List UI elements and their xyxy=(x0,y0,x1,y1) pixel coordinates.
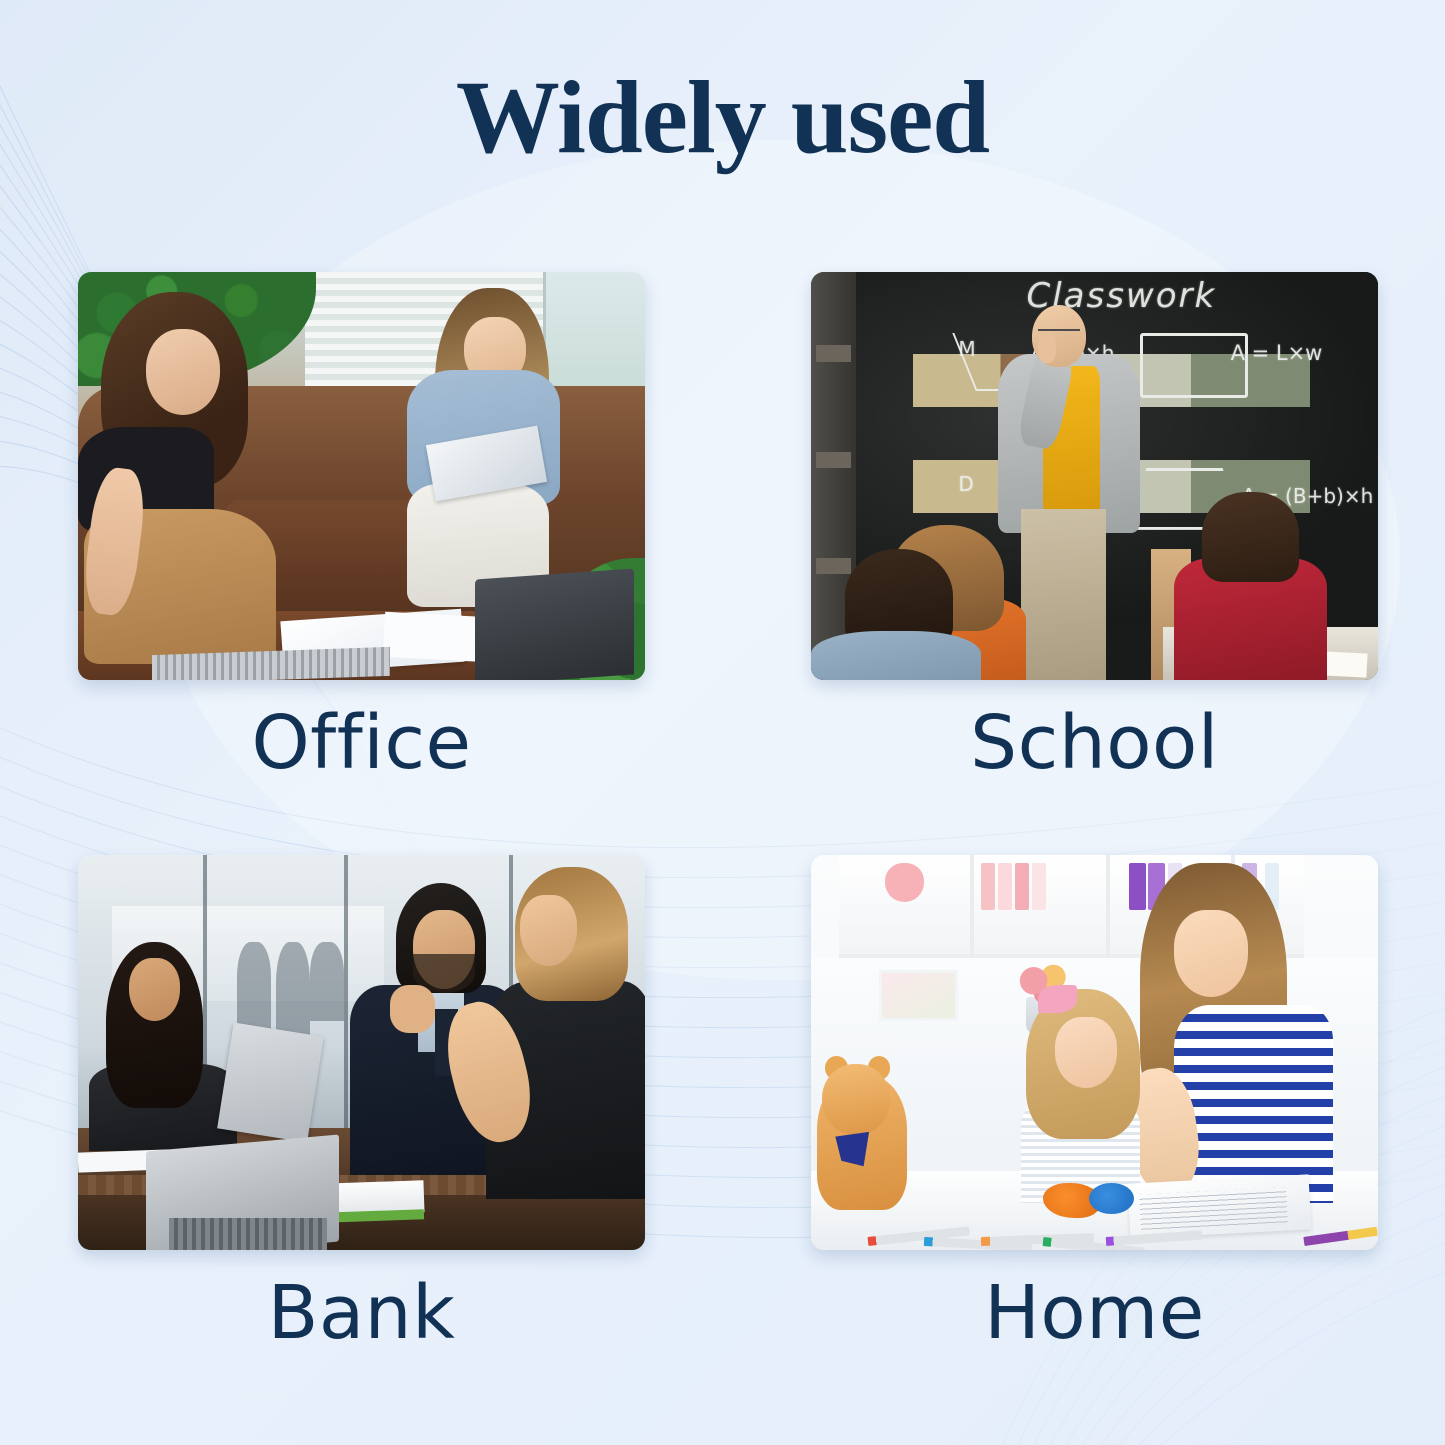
blackboard-extra-label: D xyxy=(958,472,973,496)
blackboard-triangle-labels: M xyxy=(958,337,975,361)
use-case-photo-bank[interactable] xyxy=(78,855,645,1250)
use-case-label-school: School xyxy=(811,680,1378,855)
blackboard-formula-rectangle: A = L×w xyxy=(1231,341,1323,365)
use-case-photo-home[interactable] xyxy=(811,855,1378,1250)
use-case-label-home: Home xyxy=(811,1250,1378,1425)
poster-canvas: Widely used xyxy=(0,0,1445,1445)
use-case-photo-school[interactable]: Classwork M = b×h A = L×w D B A = (B+b)×… xyxy=(811,272,1378,680)
use-case-label-bank: Bank xyxy=(78,1250,645,1425)
page-title: Widely used xyxy=(0,62,1445,174)
use-case-label-office: Office xyxy=(78,680,645,855)
use-case-grid: Classwork M = b×h A = L×w D B A = (B+b)×… xyxy=(78,272,1378,1382)
use-case-photo-office[interactable] xyxy=(78,272,645,680)
